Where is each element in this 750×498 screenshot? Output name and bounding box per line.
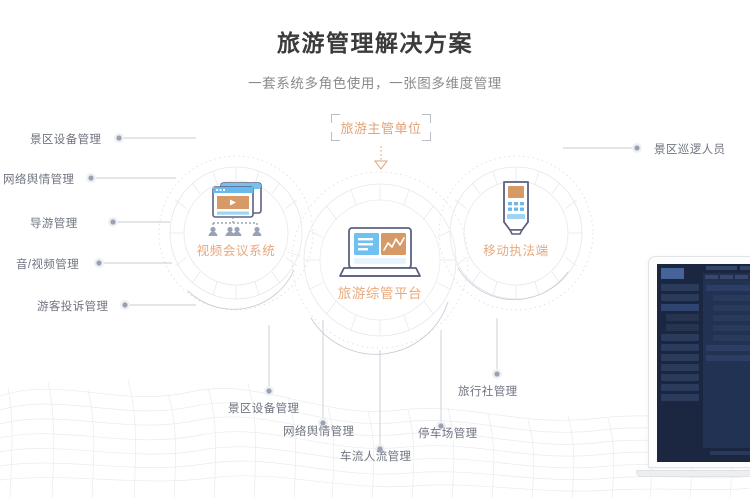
node-label-video-conference: 视频会议系统 <box>181 240 291 259</box>
left-connector-dots <box>86 133 130 310</box>
dashboard-content <box>703 264 750 462</box>
tree-row <box>713 335 750 341</box>
left-label-3[interactable]: 音/视频管理 <box>16 256 79 272</box>
tree-row <box>713 295 750 301</box>
dashboard-topbar <box>703 264 750 273</box>
bottom-label-1[interactable]: 网络舆情管理 <box>283 423 354 439</box>
laptop-base <box>636 470 750 477</box>
dashboard-menu-item <box>661 374 699 381</box>
node-label-tourism-platform: 旅游综管平台 <box>320 282 440 302</box>
laptop-mockup <box>648 256 750 498</box>
laptop-lid <box>648 256 750 468</box>
left-label-4[interactable]: 游客投诉管理 <box>37 298 108 314</box>
dashboard-menu-item <box>661 394 699 401</box>
tree-row <box>706 355 750 361</box>
dashboard-sidebar <box>657 264 703 462</box>
node-mobile-enforcement[interactable]: 移动执法端 <box>461 178 571 259</box>
dashboard-menu-item <box>661 384 699 391</box>
authority-box[interactable]: 旅游主管单位 <box>331 114 431 141</box>
dashboard-tree <box>703 281 750 448</box>
dashboard-logo <box>661 268 699 279</box>
video-window-icon <box>181 178 291 240</box>
bottom-label-3[interactable]: 停车场管理 <box>418 425 478 441</box>
dashboard-menu-item <box>661 284 699 291</box>
right-label-0[interactable]: 景区巡逻人员 <box>654 141 725 157</box>
dashboard-menu-item <box>661 334 699 341</box>
tree-row <box>706 345 750 351</box>
bottom-label-4[interactable]: 旅行社管理 <box>458 383 518 399</box>
tree-row <box>713 305 750 311</box>
authority-label: 旅游主管单位 <box>331 114 431 141</box>
dashboard-menu-item <box>666 324 699 331</box>
dashboard-columns <box>703 281 750 448</box>
dashboard-footer <box>703 448 750 462</box>
node-tourism-platform[interactable]: 旅游综管平台 <box>320 226 440 302</box>
bottom-label-2[interactable]: 车流人流管理 <box>340 448 411 464</box>
dashboard-menu-item <box>661 294 699 301</box>
dashboard-menu-item <box>661 344 699 351</box>
dashboard-menu-item <box>661 354 699 361</box>
bottom-connector-dots <box>264 369 502 454</box>
tree-row <box>713 325 750 331</box>
bottom-label-0[interactable]: 景区设备管理 <box>228 400 299 416</box>
left-label-0[interactable]: 景区设备管理 <box>30 131 101 147</box>
node-label-mobile-enforcement: 移动执法端 <box>461 240 571 259</box>
left-label-2[interactable]: 导游管理 <box>30 215 78 231</box>
infographic-canvas: 旅游管理解决方案 一套系统多角色使用，一张图多维度管理 <box>0 0 750 498</box>
dashboard-menu-item <box>661 364 699 371</box>
tree-row <box>706 285 750 291</box>
tree-row <box>713 315 750 321</box>
dashboard-screen <box>657 264 750 462</box>
right-connectors <box>563 143 642 153</box>
laptop-dashboard-icon <box>320 226 440 282</box>
authority-connector <box>375 146 387 169</box>
node-video-conference[interactable]: 视频会议系统 <box>181 178 291 259</box>
dashboard-menu-item <box>661 304 699 311</box>
dashboard-tabbar <box>703 273 750 281</box>
left-label-1[interactable]: 网络舆情管理 <box>3 171 74 187</box>
dashboard-menu-item <box>666 314 699 321</box>
handheld-terminal-icon <box>461 178 571 240</box>
